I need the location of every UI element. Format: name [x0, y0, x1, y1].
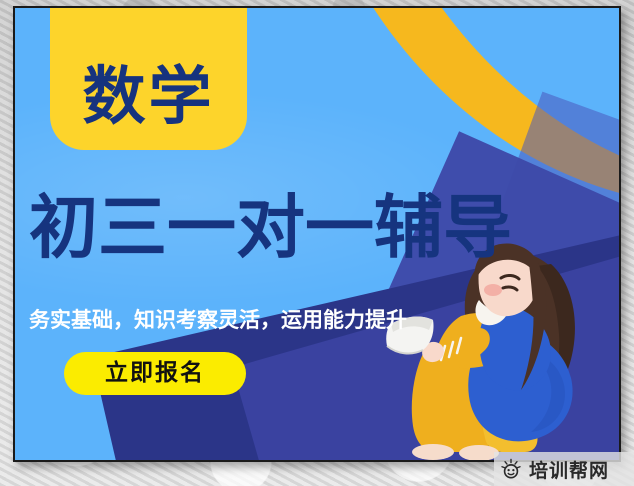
- enroll-now-button[interactable]: 立即报名: [64, 352, 246, 395]
- enroll-now-button-label: 立即报名: [105, 362, 205, 385]
- page-backdrop: 数学 初三一对一辅导 务实基础，知识考察灵活，运用能力提升 立即报名: [0, 0, 634, 486]
- course-promo-banner: 数学 初三一对一辅导 务实基础，知识考察灵活，运用能力提升 立即报名: [13, 6, 621, 462]
- watermark-label: 培训帮网: [529, 456, 609, 483]
- banner-headline: 初三一对一辅导: [29, 194, 621, 263]
- site-watermark: 培训帮网: [494, 452, 634, 486]
- sun-face-icon: [500, 458, 522, 480]
- banner-subtitle: 务实基础，知识考察灵活，运用能力提升: [29, 304, 549, 334]
- subject-badge-label: 数学: [83, 65, 215, 128]
- subject-badge: 数学: [50, 6, 247, 150]
